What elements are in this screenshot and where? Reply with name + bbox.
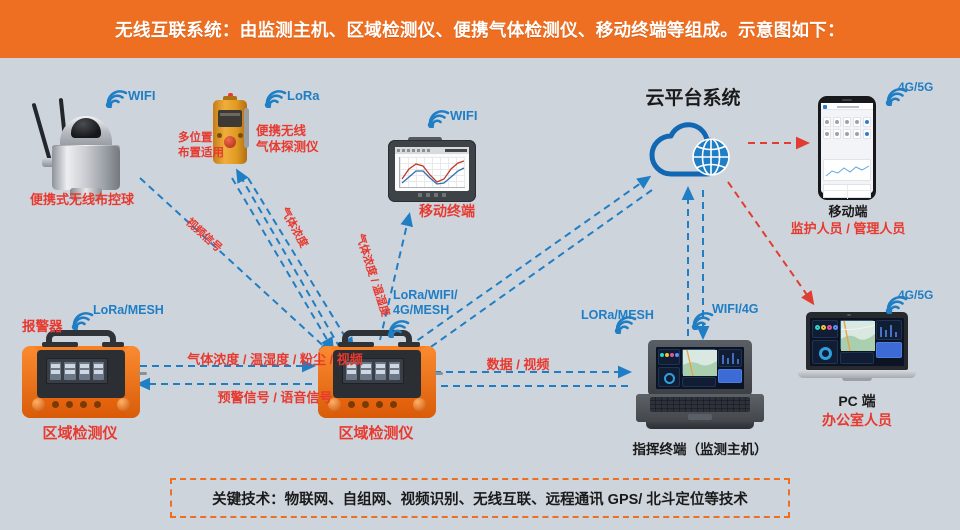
command-gauge-2 [665, 353, 669, 357]
label-gas-detector-name-1: 便携无线 [256, 124, 306, 140]
radio-label-hub-detector-1: LoRa/WIFI/ [393, 288, 458, 304]
label-camera-name: 便携式无线布控球 [30, 192, 134, 208]
label-phone-name: 移动端 [828, 204, 867, 220]
phone-table [823, 184, 871, 198]
label-phone-role: 监护人员 / 管理人员 [791, 221, 906, 237]
label-cloud-platform: 云平台系统 [645, 87, 740, 111]
label-pc-name: PC 端 [838, 393, 875, 411]
link-label-downlink-alerts: 预警信号 / 语音信号 [218, 390, 333, 406]
command-donut-chart [664, 373, 675, 384]
command-gauge-1 [660, 353, 664, 357]
command-base [646, 422, 754, 429]
pc-gauge-3 [827, 325, 832, 330]
phone-chart [823, 159, 871, 181]
radio-label-gas-detector: LoRa [287, 88, 320, 104]
detector-display [46, 358, 108, 384]
wifi-icon-tablet [426, 108, 452, 128]
pc-laptop-device [798, 312, 916, 386]
pc-gauge-1 [815, 325, 820, 330]
pc-webcam [847, 314, 851, 316]
link-cloud-to-pc [728, 182, 812, 302]
antenna-left [32, 103, 53, 164]
label-command-terminal: 指挥终端（监测主机） [633, 442, 768, 459]
command-panel-donut [658, 367, 680, 387]
link-label-uplink-sensors: 气体浓度 / 温湿度 / 粉尘 / 视频 [187, 352, 363, 368]
globe-icon [693, 139, 729, 175]
detector-knob-right [413, 398, 426, 411]
radio-label-phone: 4G/5G [898, 80, 933, 95]
detector-screen [218, 110, 242, 127]
link-gas-to-hub-b [248, 178, 352, 348]
label-area-detector-left: 区域检测仪 [42, 425, 117, 444]
pc-panel-metrics [812, 320, 838, 338]
pc-panel-video [876, 342, 902, 358]
command-screen [656, 347, 744, 389]
radio-label-command-left: LORa/MESH [581, 308, 654, 324]
phone-app-header [821, 103, 873, 110]
radio-label-camera: WIFI [128, 88, 155, 104]
mobile-phone-device [818, 96, 876, 200]
label-gas-detector-note-2: 布置适用 [178, 146, 224, 160]
label-pc-role: 办公室人员 [822, 412, 892, 430]
link-hub-to-gas [238, 172, 340, 348]
pc-panel-list [840, 352, 874, 364]
command-touchpad [688, 414, 712, 420]
detector-knob-right [117, 398, 130, 411]
pc-donut-chart [819, 347, 832, 360]
pc-panel-map [840, 320, 874, 350]
detector-vent-right [398, 342, 420, 347]
radio-label-command-right: WIFI/4G [712, 302, 759, 318]
detector-buttons [348, 401, 397, 408]
label-tablet-name: 移动终端 [419, 203, 475, 221]
command-panel-video [718, 369, 742, 383]
pc-foot [842, 378, 872, 381]
link-label-gas-concentration: 气体浓度 [277, 204, 312, 250]
detector-power-button [224, 136, 236, 148]
detector-antenna [434, 372, 443, 375]
command-terminal-device [636, 340, 764, 432]
camera-body [52, 146, 120, 190]
wifi-icon-hub-detector [386, 318, 412, 338]
wifi-icon-gas-detector [263, 88, 289, 108]
pc-panel-bars [876, 320, 902, 340]
cloud-platform-icon [645, 120, 741, 182]
radio-label-tablet: WIFI [450, 108, 477, 124]
tablet-toolbar [395, 147, 469, 154]
footer-text: 关键技术：物联网、自组网、视频识别、无线互联、远程通讯 GPS/ 北斗定位等技术 [212, 488, 748, 509]
detector-buttons [52, 401, 101, 408]
header-title: 无线互联系统：由监测主机、区域检测仪、便携气体检测仪、移动终端等组成。示意图如下… [115, 17, 845, 42]
phone-screen [821, 103, 873, 193]
area-detector-device-left [22, 340, 140, 418]
tablet-screen [395, 147, 469, 191]
portable-wireless-camera-device [22, 98, 142, 203]
link-label-data-video: 数据 / 视频 [487, 357, 550, 373]
label-gas-detector-note-1: 多位置 [178, 131, 213, 145]
detector-vent-right [102, 342, 124, 347]
mobile-terminal-tablet-device [388, 140, 476, 202]
command-panel-map [682, 349, 716, 375]
detector-belt-clip [244, 108, 249, 148]
wifi-icon-camera [104, 88, 130, 108]
link-label-video-signal: 视频信号 [183, 214, 226, 255]
pc-gauge-4 [833, 325, 838, 330]
detector-knob-left [32, 398, 45, 411]
link-gas-to-hub-a [232, 178, 332, 348]
detector-side-button-right [238, 133, 243, 138]
pc-panel-donut [812, 340, 838, 364]
tablet-chart [399, 157, 465, 188]
footer-banner: 关键技术：物联网、自组网、视频识别、无线互联、远程通讯 GPS/ 北斗定位等技术 [170, 478, 790, 518]
header-banner: 无线互联系统：由监测主机、区域检测仪、便携气体检测仪、移动终端等组成。示意图如下… [0, 0, 960, 58]
radio-label-hub-detector-2: 4G/MESH [393, 303, 449, 319]
pc-screen [810, 318, 904, 366]
label-alarm: 报警器 [22, 319, 63, 336]
radio-label-pc: 4G/5G [898, 288, 933, 303]
detector-side-button-left [217, 133, 222, 138]
label-gas-detector-name-2: 气体探测仪 [256, 140, 319, 156]
link-label-gas-temp: 气体浓度 / 温湿度 [352, 232, 394, 319]
command-panel-bars [718, 349, 742, 367]
pc-gauge-2 [821, 325, 826, 330]
command-gauge-4 [675, 353, 679, 357]
phone-icon-grid [823, 117, 871, 141]
command-panel-list [682, 377, 716, 387]
command-keyboard [650, 397, 750, 412]
connector-layer [0, 0, 960, 530]
detector-vent-left [338, 342, 374, 347]
diagram-canvas: 无线互联系统：由监测主机、区域检测仪、便携气体检测仪、移动终端等组成。示意图如下… [0, 0, 960, 530]
command-gauge-3 [670, 353, 674, 357]
detector-vent-left [42, 342, 78, 347]
label-area-detector-hub: 区域检测仪 [338, 425, 413, 444]
radio-label-alarm-detector: LoRa/MESH [93, 303, 164, 319]
phone-speaker [842, 99, 852, 101]
tablet-front-buttons [418, 193, 446, 197]
command-panel-metrics [658, 349, 680, 365]
link-camera-to-hub [140, 178, 330, 352]
pc-base [798, 370, 916, 378]
detector-antenna [138, 372, 147, 375]
